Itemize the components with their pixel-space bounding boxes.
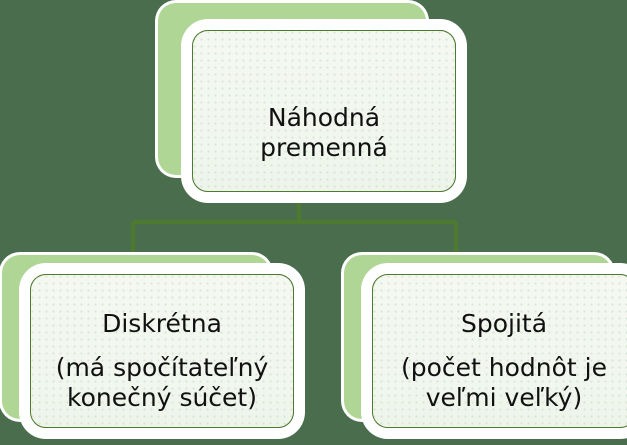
node-spojita-description: (počet hodnôt je veľmi veľký) (373, 353, 627, 412)
diagram-canvas: Náhodná premenná Diskrétna (má spočítate… (0, 0, 627, 443)
node-nahodna-premenna[interactable]: Náhodná premenná (158, 3, 468, 203)
node-root-label: Náhodná premenná (193, 103, 455, 162)
node-diskretna-title: Diskrétna (31, 309, 293, 339)
node-spojita[interactable]: Spojitá (počet hodnôt je veľmi veľký) (344, 255, 627, 445)
node-diskretna-face[interactable]: Diskrétna (má spočítateľný konečný súčet… (30, 274, 294, 428)
node-spojita-face[interactable]: Spojitá (počet hodnôt je veľmi veľký) (372, 274, 627, 428)
node-diskretna[interactable]: Diskrétna (má spočítateľný konečný súčet… (2, 255, 302, 445)
node-diskretna-description: (má spočítateľný konečný súčet) (31, 353, 293, 412)
node-spojita-title: Spojitá (373, 309, 627, 339)
node-root-face[interactable]: Náhodná premenná (192, 30, 456, 192)
